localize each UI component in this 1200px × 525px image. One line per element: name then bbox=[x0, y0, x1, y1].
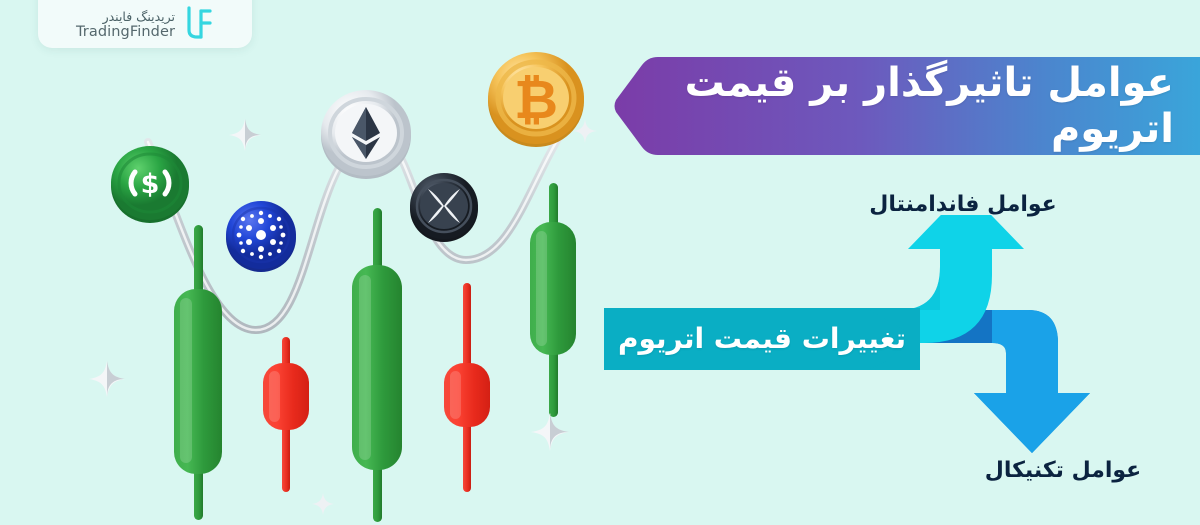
cardano-coin bbox=[222, 196, 300, 274]
label-fundamental: عوامل فاندامنتال bbox=[848, 192, 1078, 217]
ethereum-coin bbox=[316, 83, 416, 183]
candle-3 bbox=[352, 208, 402, 522]
bitcoin-coin: ₿ bbox=[482, 44, 590, 152]
title-banner: عوامل تاثیرگذار بر قیمت اتریوم bbox=[612, 55, 1200, 157]
title-text: عوامل تاثیرگذار بر قیمت اتریوم bbox=[652, 60, 1190, 152]
bitcoin-symbol-icon: ₿ bbox=[514, 68, 558, 131]
candle-4 bbox=[444, 283, 490, 492]
infographic-canvas: $ bbox=[0, 0, 1200, 525]
sparkle-1 bbox=[228, 118, 262, 156]
logo-text: تریدینگ فایندر TradingFinder bbox=[76, 10, 175, 40]
logo-english-name: TradingFinder bbox=[76, 24, 175, 40]
sparkle-2 bbox=[88, 360, 126, 402]
sparkle-4 bbox=[311, 492, 335, 520]
tf-monogram-icon bbox=[184, 6, 214, 40]
svg-text:$: $ bbox=[141, 169, 160, 200]
sub-banner: تغییرات قیمت اتریوم bbox=[604, 308, 920, 370]
candle-1 bbox=[174, 225, 222, 520]
candle-5 bbox=[530, 183, 576, 417]
usdc-coin: $ bbox=[108, 142, 192, 226]
candle-2 bbox=[263, 337, 309, 492]
sparkle-3 bbox=[530, 412, 570, 456]
logo-persian-name: تریدینگ فایندر bbox=[103, 10, 175, 24]
sub-banner-text: تغییرات قیمت اتریوم bbox=[604, 308, 920, 370]
xrp-coin bbox=[406, 168, 482, 244]
logo-card[interactable]: تریدینگ فایندر TradingFinder bbox=[38, 0, 252, 48]
